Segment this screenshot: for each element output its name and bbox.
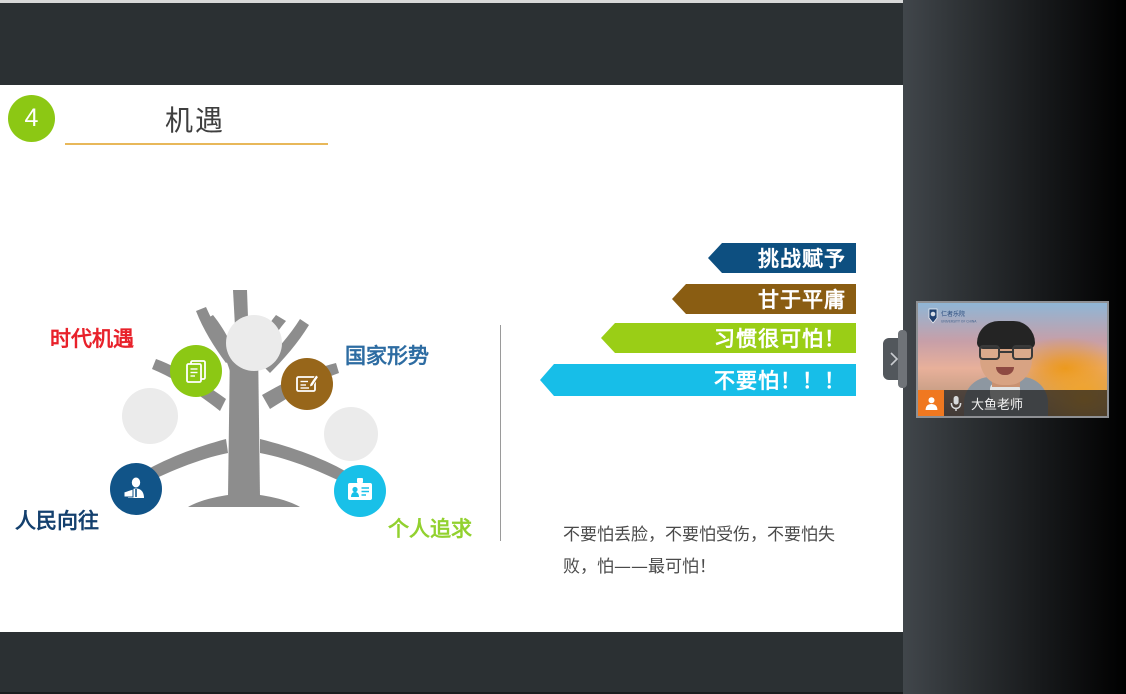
presentation-stage: 4 机遇 xyxy=(0,0,903,694)
documents-icon xyxy=(183,358,209,384)
microphone-icon xyxy=(949,395,963,412)
participant-video-tile[interactable]: 仁者乐院 UNIVERSITY OF CHINA xyxy=(916,301,1109,418)
svg-text:仁者乐院: 仁者乐院 xyxy=(941,310,965,318)
tree-label-personal-pursuit: 个人追求 xyxy=(388,513,472,543)
tree-node-era-opportunity[interactable] xyxy=(170,345,222,397)
tree-label-people-aspiration: 人民向往 xyxy=(15,505,99,535)
tree-label-era-opportunity: 时代机遇 xyxy=(50,323,134,353)
banner-habit-is-scary: 习惯很可怕！ xyxy=(601,323,856,353)
title-underline xyxy=(65,143,328,145)
content-divider xyxy=(500,325,501,541)
edit-note-icon xyxy=(293,370,321,398)
tree-node-personal-pursuit[interactable] xyxy=(334,465,386,517)
banner-dont-be-afraid: 不要怕！！！ xyxy=(540,364,856,396)
banner-content-with-mediocrity: 甘于平庸 xyxy=(672,284,856,314)
leaf-blank-left xyxy=(122,388,178,444)
tree-infographic: 时代机遇 国家形势 人民向往 个人追求 xyxy=(0,195,500,525)
shared-slide[interactable]: 4 机遇 xyxy=(0,85,903,632)
participant-name: 大鱼老师 xyxy=(971,394,1023,413)
person-laptop-icon xyxy=(121,474,151,504)
banner-challenge-empowers: 挑战赋予 xyxy=(708,243,856,273)
leaf-blank-top xyxy=(226,315,282,371)
tree-node-people-aspiration[interactable] xyxy=(110,463,162,515)
slide-body-text: 不要怕丢脸，不要怕受伤，不要怕失败，怕——最可怕！ xyxy=(563,519,863,583)
tree-node-national-situation[interactable] xyxy=(281,358,333,410)
slide-number-badge: 4 xyxy=(8,95,55,142)
tree-label-national-situation: 国家形势 xyxy=(345,340,429,370)
meeting-screen: 4 机遇 xyxy=(0,0,1126,694)
slide-title: 机遇 xyxy=(165,99,225,139)
video-tile-footer: 大鱼老师 xyxy=(918,390,1107,416)
stage-top-edge xyxy=(0,0,903,3)
mic-status[interactable] xyxy=(944,390,968,416)
leaf-blank-right xyxy=(324,407,378,461)
panel-scrollbar[interactable] xyxy=(898,330,907,388)
id-card-icon xyxy=(345,476,375,506)
person-avatar-icon xyxy=(924,396,939,411)
avatar xyxy=(918,390,944,416)
